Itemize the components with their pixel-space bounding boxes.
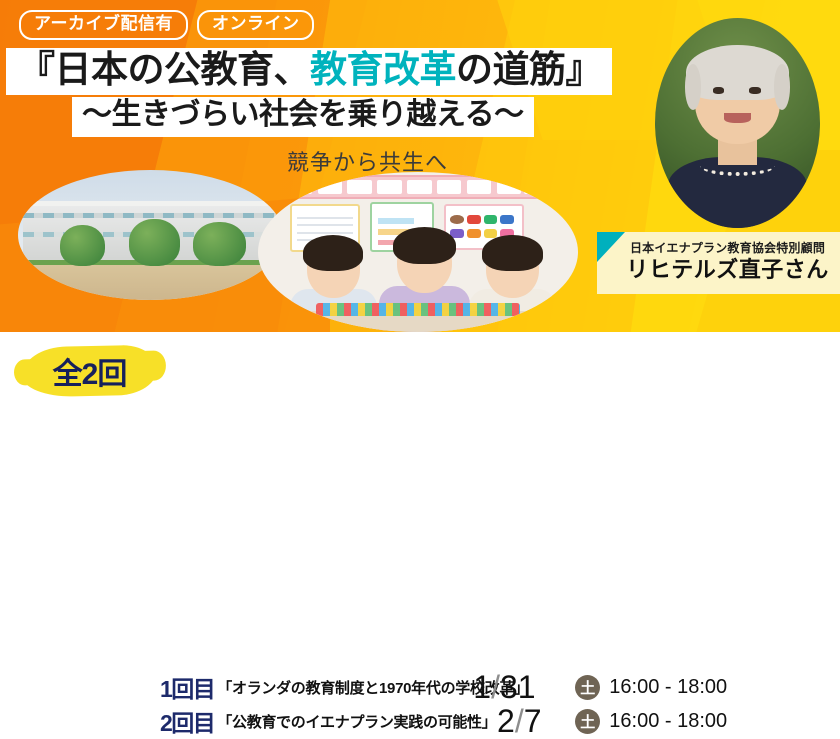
session-2-day: 7 — [524, 703, 542, 739]
child-center-hair — [393, 227, 456, 264]
session-1-number: 1回目 — [160, 670, 214, 704]
classroom-toys — [316, 303, 521, 316]
session-count-label: 全2回 — [53, 349, 127, 393]
session-row-2: 2回目 「公教育でのイエナプラン実践の可能性」 2/7 土 16:00 - 18… — [160, 704, 840, 738]
school-building-photo — [18, 170, 283, 300]
classroom-top-banner — [280, 175, 555, 199]
child-center-head — [397, 233, 452, 293]
child-left-hair — [303, 235, 363, 270]
triangle-accent-icon — [597, 232, 625, 262]
session-2-weekday-badge: 土 — [575, 709, 600, 734]
child-right-hair — [482, 235, 542, 270]
session-2-title: 「公教育でのイエナプラン実践の可能性」 — [217, 711, 467, 732]
badge-group: アーカイブ配信有 オンライン — [19, 10, 314, 40]
session-2-month: 2 — [497, 703, 515, 739]
portrait-pearl-necklace — [700, 155, 776, 176]
session-1-month: 1 — [473, 669, 491, 705]
tagline: 競争から共生へ — [287, 145, 448, 177]
child-left-head — [307, 241, 360, 298]
badge-online: オンライン — [197, 10, 315, 40]
session-2-time: 16:00 - 18:00 — [609, 710, 727, 733]
school-tree-1 — [60, 225, 105, 267]
session-1-slash: / — [491, 669, 500, 705]
school-tree-3 — [193, 222, 246, 266]
speaker-role: 日本イエナプラン教育協会特別顧問 — [615, 242, 840, 255]
session-1-weekday-badge: 土 — [575, 675, 600, 700]
title-part-3: の道筋』 — [456, 49, 602, 90]
session-footer: 全2回 1回目 「オランダの教育制度と1970年代の学校改革」 1/31 土 1… — [0, 332, 840, 411]
speaker-nameplate: 日本イエナプラン教育協会特別顧問 リヒテルズ直子さん — [597, 232, 840, 294]
school-tree-2 — [129, 219, 179, 266]
session-2-slash: / — [515, 703, 524, 739]
title-block: 『日本の公教育、教育改革の道筋』 〜生きづらい社会を乗り越える〜 — [0, 48, 840, 137]
speaker-name: リヒテルズ直子さん — [615, 256, 840, 284]
session-count-badge: 全2回 — [22, 338, 157, 404]
session-1-title: 「オランダの教育制度と1970年代の学校改革」 — [217, 677, 467, 698]
session-1-day: 31 — [500, 669, 536, 705]
session-1-time: 16:00 - 18:00 — [609, 676, 727, 699]
session-2-date: 2/7 — [473, 705, 565, 737]
session-2-number: 2回目 — [160, 704, 214, 738]
session-row-1: 1回目 「オランダの教育制度と1970年代の学校改革」 1/31 土 16:00… — [160, 670, 840, 704]
title-highlight: 教育改革 — [310, 49, 456, 90]
school-ground — [18, 265, 283, 300]
session-1-date: 1/31 — [473, 671, 565, 703]
page-title: 『日本の公教育、教育改革の道筋』 — [6, 48, 612, 95]
session-list: 1回目 「オランダの教育制度と1970年代の学校改革」 1/31 土 16:00… — [160, 670, 840, 738]
badge-archive: アーカイブ配信有 — [19, 10, 188, 40]
page-subtitle: 〜生きづらい社会を乗り越える〜 — [72, 97, 534, 137]
event-banner: アーカイブ配信有 オンライン 『日本の公教育、教育改革の道筋』 〜生きづらい社会… — [0, 0, 840, 332]
child-right-head — [486, 241, 539, 298]
classroom-children-photo — [258, 172, 578, 332]
title-part-1: 『日本の公教育、 — [18, 49, 310, 90]
